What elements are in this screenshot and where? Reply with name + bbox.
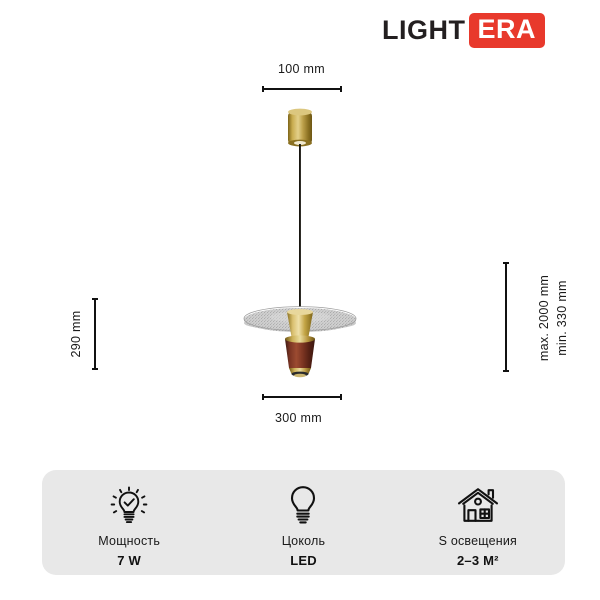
spec-item-power: Мощность 7 W — [42, 470, 216, 568]
pendant-lamp-illustration — [0, 0, 600, 460]
ceiling-canopy — [288, 109, 312, 147]
bulb-icon — [286, 483, 320, 527]
spec-item-area: S освещения 2–3 M² — [391, 470, 565, 568]
spec-title-power: Мощность — [98, 534, 160, 548]
spec-title-socket: Цоколь — [282, 534, 326, 548]
bulb-check-icon — [109, 483, 149, 527]
product-spec-sheet: LIGHT ERA 100 mm 300 mm 290 mm max. 2000… — [0, 0, 600, 600]
spec-title-area: S освещения — [439, 534, 517, 548]
spec-item-socket: Цоколь LED — [216, 470, 390, 568]
spec-value-area: 2–3 M² — [457, 553, 499, 568]
specification-panel: Мощность 7 W Цоколь LED — [42, 470, 565, 575]
spec-value-power: 7 W — [117, 553, 141, 568]
spec-value-socket: LED — [290, 553, 317, 568]
house-icon — [456, 483, 500, 527]
lamp-body — [285, 335, 315, 377]
suspension-cord — [299, 144, 301, 307]
